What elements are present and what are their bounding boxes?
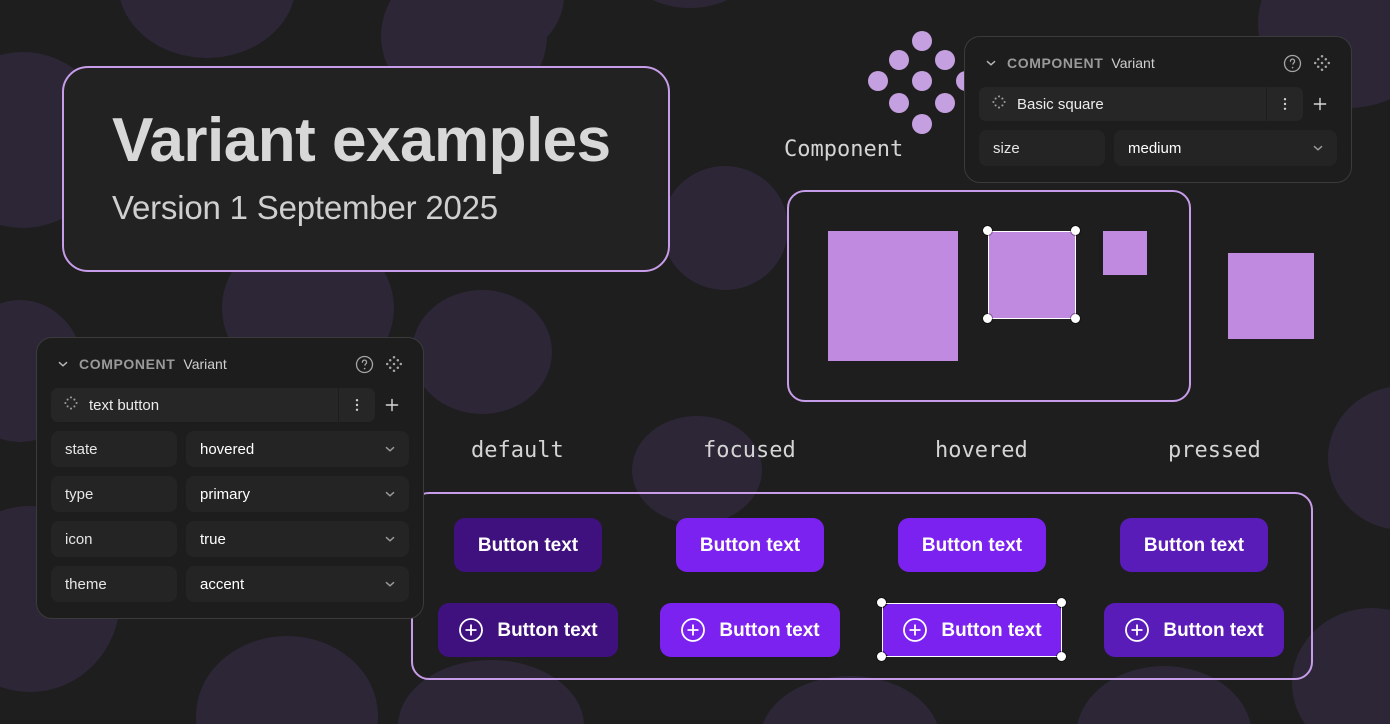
plus-circle-icon [1124,617,1150,643]
property-value: medium [1128,140,1311,157]
square-small[interactable] [1103,231,1147,275]
selection-handle-tr[interactable] [1057,598,1066,607]
button-label: Button text [719,621,819,640]
property-value: accent [200,576,383,593]
selection-handle-bl[interactable] [877,652,886,661]
component-dots-icon [63,395,79,416]
property-value-select[interactable]: hovered [186,431,409,467]
chevron-down-icon [383,442,397,456]
help-circle-icon[interactable] [353,353,375,375]
component-name-row: text button [51,388,409,422]
button-label: Button text [1144,536,1244,555]
component-dots-icon[interactable] [383,353,405,375]
plus-icon[interactable] [1303,87,1337,121]
selection-handle-tl[interactable] [983,226,992,235]
property-row-icon: icon true [51,521,409,557]
property-key: theme [51,566,177,602]
property-value-select[interactable]: accent [186,566,409,602]
component-name-field[interactable]: Basic square [979,87,1266,121]
button-default-text[interactable]: Button text [454,518,602,572]
component-name-value: Basic square [1017,96,1104,113]
title-card: Variant examples Version 1 September 202… [62,66,670,272]
design-canvas: Variant examples Version 1 September 202… [0,0,1390,724]
bg-blob [412,290,552,414]
chevron-down-icon[interactable] [55,356,71,372]
chevron-down-icon [1311,141,1325,155]
page-subtitle: Version 1 September 2025 [112,189,620,227]
property-row-type: type primary [51,476,409,512]
selection-handle-br[interactable] [1071,314,1080,323]
property-key: icon [51,521,177,557]
property-value-select[interactable]: true [186,521,409,557]
square-outside[interactable] [1228,253,1314,339]
button-label: Button text [1163,621,1263,640]
panel-title-label: Variant [183,356,226,372]
chevron-down-icon [383,532,397,546]
chevron-down-icon [383,577,397,591]
component-name-row: Basic square [979,87,1337,121]
chevron-down-icon[interactable] [983,55,999,71]
state-label-focused: focused [703,438,796,463]
properties-panel-basic-square: COMPONENT Variant [964,36,1352,183]
panel-kind-label: COMPONENT [1007,55,1103,71]
property-value-select[interactable]: primary [186,476,409,512]
page-title: Variant examples [112,108,620,173]
selection-box-square [988,231,1076,319]
square-large[interactable] [828,231,958,361]
panel-title-label: Variant [1111,55,1154,71]
bg-blob [118,0,296,58]
button-label: Button text [700,536,800,555]
chevron-down-icon [383,487,397,501]
panel-header: COMPONENT Variant [51,350,409,378]
property-key: state [51,431,177,467]
button-focused-text[interactable]: Button text [676,518,824,572]
selection-box-button [882,603,1062,657]
bg-blob [1328,386,1390,530]
component-dots-icon [991,94,1007,115]
selection-handle-br[interactable] [1057,652,1066,661]
button-label: Button text [922,536,1022,555]
button-label: Button text [497,621,597,640]
properties-panel-text-button: COMPONENT Variant [36,337,424,619]
plus-circle-icon [458,617,484,643]
bg-blob [662,166,788,290]
property-key: size [979,130,1105,166]
panel-header: COMPONENT Variant [979,49,1337,77]
selection-handle-tr[interactable] [1071,226,1080,235]
bg-blob [196,636,378,724]
panel-kind-label: COMPONENT [79,356,175,372]
component-dots-icon[interactable] [1311,52,1333,74]
state-label-hovered: hovered [935,438,1028,463]
button-pressed-icon-text[interactable]: Button text [1104,603,1284,657]
component-name-field[interactable]: text button [51,388,338,422]
property-row-theme: theme accent [51,566,409,602]
property-value: hovered [200,441,383,458]
plus-circle-icon [680,617,706,643]
button-pressed-text[interactable]: Button text [1120,518,1268,572]
property-key: type [51,476,177,512]
selection-handle-tl[interactable] [877,598,886,607]
button-focused-icon-text[interactable]: Button text [660,603,840,657]
help-circle-icon[interactable] [1281,52,1303,74]
selection-handle-bl[interactable] [983,314,992,323]
button-default-icon-text[interactable]: Button text [438,603,618,657]
dot-pattern-decoration [866,30,978,134]
state-label-default: default [471,438,564,463]
more-vertical-icon[interactable] [1266,87,1303,121]
button-hovered-text[interactable]: Button text [898,518,1046,572]
property-row-size: size medium [979,130,1337,166]
state-label-pressed: pressed [1168,438,1261,463]
bg-blob [760,676,940,724]
property-value: primary [200,486,383,503]
plus-icon[interactable] [375,388,409,422]
component-section-label: Component [784,137,903,162]
component-name-value: text button [89,397,159,414]
more-vertical-icon[interactable] [338,388,375,422]
property-value: true [200,531,383,548]
property-row-state: state hovered [51,431,409,467]
property-value-select[interactable]: medium [1114,130,1337,166]
button-label: Button text [478,536,578,555]
bg-blob [615,0,765,8]
